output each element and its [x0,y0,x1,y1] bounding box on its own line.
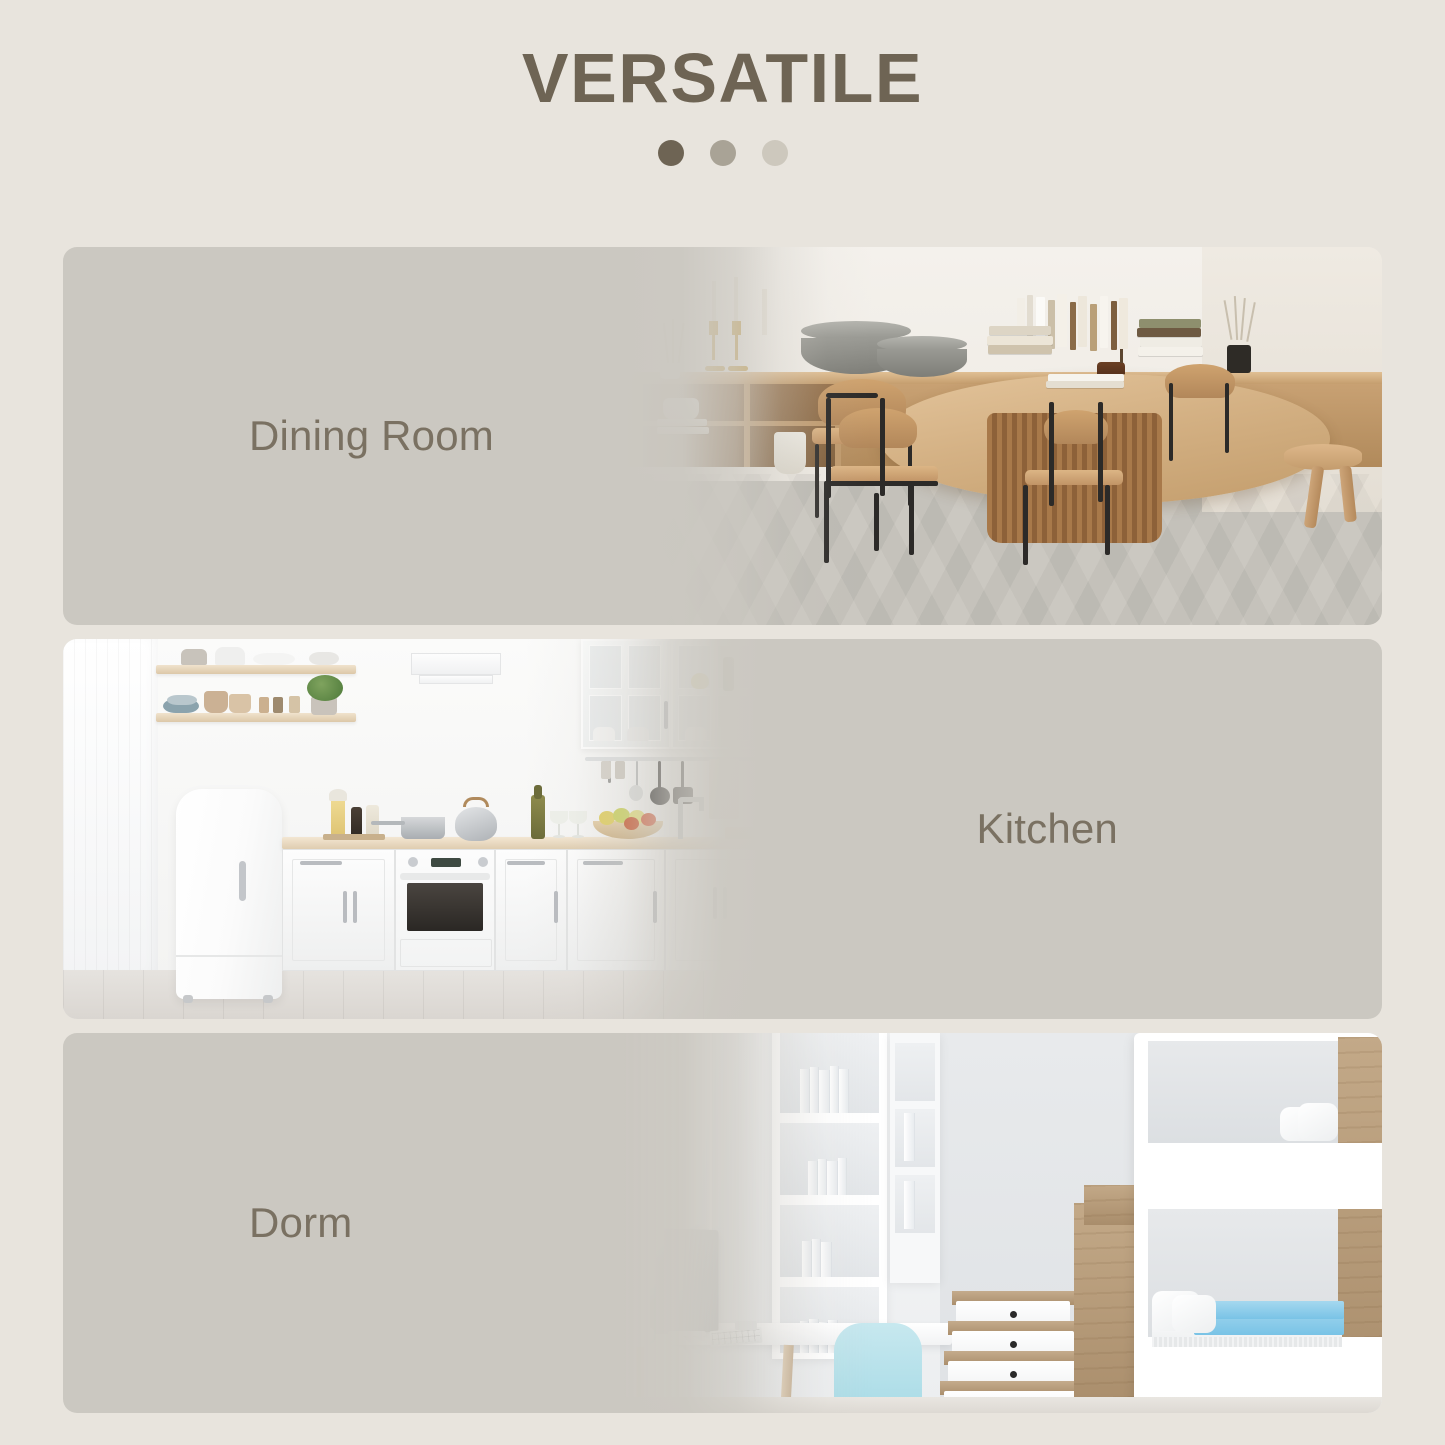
dining-room-photo [622,247,1382,625]
carousel-dots[interactable] [0,140,1445,166]
dorm-photo [622,1033,1382,1413]
panel-label-kitchen: Kitchen [977,805,1119,853]
carousel-dot-2-icon[interactable] [710,140,736,166]
kitchen-photo [63,639,763,1019]
panel-dorm[interactable]: Dorm [63,1033,1382,1413]
panel-label-dining-room: Dining Room [249,412,494,460]
page-title: VERSATILE [0,42,1445,116]
panel-label-dorm: Dorm [249,1199,352,1247]
carousel-dot-3-icon[interactable] [762,140,788,166]
carousel-dot-1-icon[interactable] [658,140,684,166]
panel-kitchen[interactable]: Kitchen [63,639,1382,1019]
panel-dining-room[interactable]: Dining Room [63,247,1382,625]
panel-list: Dining Room [63,247,1382,1413]
page-header: VERSATILE [0,0,1445,166]
